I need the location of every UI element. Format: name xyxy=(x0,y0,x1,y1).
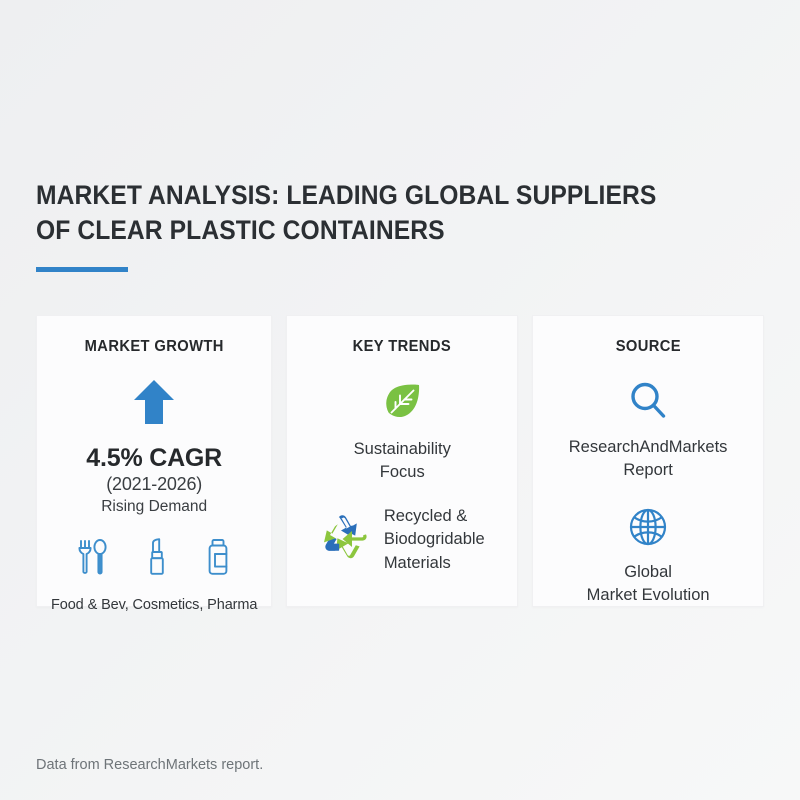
source-label-global: Global Market Evolution xyxy=(587,561,710,608)
card-market-growth: MARKET GROWTH 4.5% CAGR (2021-2026) Risi… xyxy=(36,315,272,607)
title-accent-bar xyxy=(36,267,128,272)
sector-caption: Food & Bev, Cosmetics, Pharma xyxy=(51,597,257,613)
trend-row-recycled: Recycled & Biodogridable Materials xyxy=(320,505,485,575)
stat-cagr-value: 4.5% CAGR xyxy=(86,444,222,473)
fork-spoon-icon xyxy=(76,538,110,581)
cards-container: MARKET GROWTH 4.5% CAGR (2021-2026) Risi… xyxy=(36,315,764,607)
trend-label-sustainability: Sustainability Focus xyxy=(354,438,451,485)
card-title-source: SOURCE xyxy=(615,338,680,356)
card-title-key-trends: KEY TRENDS xyxy=(353,338,451,356)
lipstick-icon xyxy=(146,538,168,581)
footer-note: Data from ResearchMarkets report. xyxy=(36,757,263,773)
leaf-icon xyxy=(380,380,424,429)
card-key-trends: KEY TRENDS Sustainability Focus xyxy=(286,315,518,607)
recycle-icon xyxy=(322,514,370,565)
trend-label-recycled: Recycled & Biodogridable Materials xyxy=(384,505,485,575)
title-block: MARKET ANALYSIS: LEADING GLOBAL SUPPLIER… xyxy=(36,178,736,272)
card-source: SOURCE ResearchAndMarkets Report xyxy=(532,315,764,607)
sector-icons-row xyxy=(51,538,257,581)
stat-cagr-period: (2021-2026) xyxy=(106,474,202,495)
page-title: MARKET ANALYSIS: LEADING GLOBAL SUPPLIER… xyxy=(36,178,687,248)
magnifier-icon xyxy=(628,380,668,427)
source-label-report: ResearchAndMarkets Report xyxy=(569,436,728,483)
up-arrow-icon xyxy=(133,378,175,431)
stat-cagr-note: Rising Demand xyxy=(101,498,207,516)
infographic-page: MARKET ANALYSIS: LEADING GLOBAL SUPPLIER… xyxy=(0,0,800,800)
card-title-market-growth: MARKET GROWTH xyxy=(85,338,224,356)
globe-icon xyxy=(628,507,668,552)
pharma-jar-icon xyxy=(204,538,232,581)
